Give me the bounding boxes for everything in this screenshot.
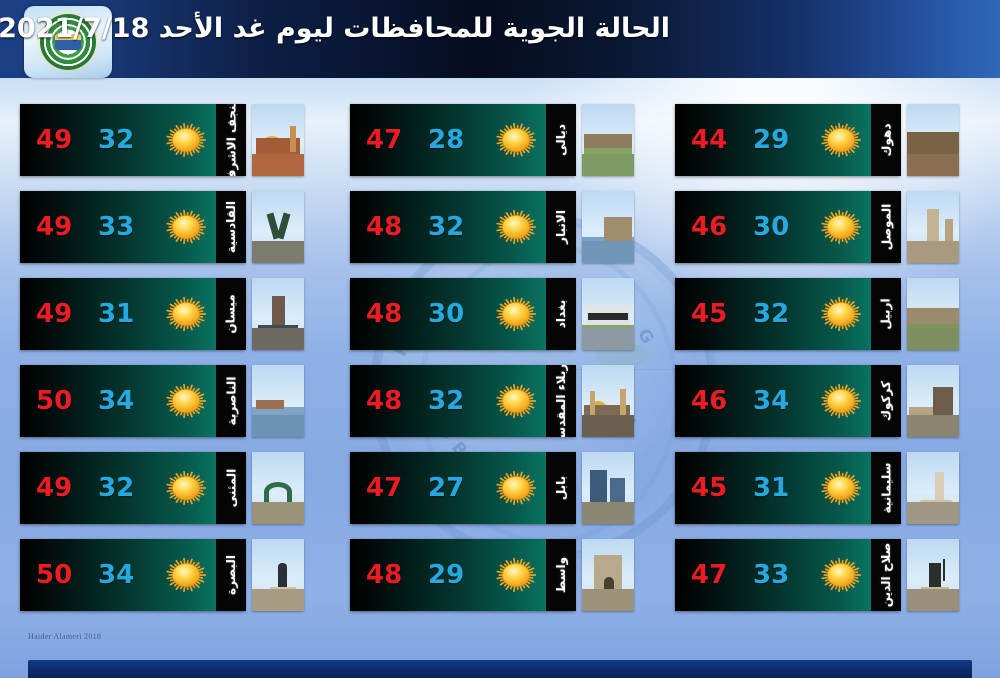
thumb-ground	[907, 589, 959, 611]
temp-low-value: 32	[98, 473, 134, 503]
city-landmark-thumbnail	[907, 191, 959, 263]
forecast-row: 49 31 ميسان	[20, 278, 340, 350]
column-left: 49 32 النجف الاشرف 49	[20, 104, 340, 626]
forecast-panel: 48 32 كربلاء المقدسة	[350, 365, 575, 437]
temp-low-value: 30	[753, 212, 789, 242]
city-name-tab: الموصل	[871, 191, 901, 263]
city-name-label: المثنى	[224, 469, 238, 508]
city-landmark-thumbnail	[252, 539, 304, 611]
sun-icon	[160, 551, 212, 599]
city-name-label: اربيل	[879, 298, 893, 329]
forecast-panel: 47 33 صلاح الدين	[675, 539, 900, 611]
thumb-ground	[582, 328, 634, 350]
sun-icon	[490, 290, 542, 338]
sun-icon	[160, 203, 212, 251]
temp-high-value: 48	[366, 386, 402, 416]
city-landmark-thumbnail	[582, 539, 634, 611]
city-name-tab: القادسية	[216, 191, 246, 263]
city-landmark-thumbnail	[907, 452, 959, 524]
sun-icon	[160, 464, 212, 512]
forecast-panel: 49 32 النجف الاشرف	[20, 104, 245, 176]
city-landmark-thumbnail	[907, 104, 959, 176]
city-name-label: دهوك	[879, 124, 893, 157]
city-name-label: القادسية	[224, 201, 238, 253]
city-name-tab: المثنى	[216, 452, 246, 524]
city-landmark-thumbnail	[907, 539, 959, 611]
city-name-tab: ميسان	[216, 278, 246, 350]
forecast-panel: 45 32 اربيل	[675, 278, 900, 350]
city-landmark-thumbnail	[907, 278, 959, 350]
forecast-row: 50 34 الناصرية	[20, 365, 340, 437]
forecast-row: 45 32 اربيل	[675, 278, 995, 350]
forecast-row: 49 32 المثنى	[20, 452, 340, 524]
weather-forecast-infographic: ROVI G HOU B R الحالة الجوية للمحافظات ل…	[0, 0, 1000, 678]
city-name-label: بابل	[554, 476, 568, 500]
city-name-label: البصرة	[224, 555, 238, 595]
city-name-tab: كركوك	[871, 365, 901, 437]
temp-low-value: 32	[753, 299, 789, 329]
thumb-ground	[252, 154, 304, 176]
city-landmark-thumbnail	[582, 104, 634, 176]
thumb-ground	[907, 502, 959, 524]
city-name-tab: دهوك	[871, 104, 901, 176]
city-name-label: سليمانية	[879, 463, 893, 514]
temp-high-value: 50	[36, 386, 72, 416]
temp-low-value: 30	[428, 299, 464, 329]
city-name-tab: ديالى	[546, 104, 576, 176]
sun-icon	[160, 377, 212, 425]
city-name-label: بغداد	[554, 300, 568, 328]
forecast-panel: 48 30 بغداد	[350, 278, 575, 350]
forecast-panel: 50 34 البصرة	[20, 539, 245, 611]
temp-high-value: 48	[366, 299, 402, 329]
city-name-tab: واسط	[546, 539, 576, 611]
city-landmark-thumbnail	[252, 278, 304, 350]
temp-high-value: 48	[366, 560, 402, 590]
thumb-ground	[907, 154, 959, 176]
city-name-tab: بابل	[546, 452, 576, 524]
forecast-row: 48 29 واسط	[350, 539, 670, 611]
sun-icon	[815, 116, 867, 164]
temp-high-value: 48	[366, 212, 402, 242]
forecast-row: 48 30 بغداد	[350, 278, 670, 350]
city-name-tab: النجف الاشرف	[216, 104, 246, 176]
thumb-ground	[252, 589, 304, 611]
city-name-tab: سليمانية	[871, 452, 901, 524]
temp-low-value: 31	[98, 299, 134, 329]
city-landmark-thumbnail	[582, 278, 634, 350]
column-middle: 47 28 ديالى 48	[350, 104, 670, 626]
city-landmark-thumbnail	[907, 365, 959, 437]
temp-high-value: 49	[36, 125, 72, 155]
thumb-ground	[252, 328, 304, 350]
page-title: الحالة الجوية للمحافظات ليوم غد الأحد 20…	[0, 13, 670, 44]
city-landmark-thumbnail	[582, 191, 634, 263]
bottom-bar	[28, 660, 972, 678]
city-name-label: صلاح الدين	[879, 543, 893, 607]
sun-icon	[815, 551, 867, 599]
sun-icon	[160, 116, 212, 164]
city-name-label: النجف الاشرف	[224, 104, 238, 176]
city-landmark-thumbnail	[582, 365, 634, 437]
forecast-row: 50 34 البصرة	[20, 539, 340, 611]
city-name-tab: كربلاء المقدسة	[546, 365, 576, 437]
temp-high-value: 49	[36, 299, 72, 329]
temp-high-value: 46	[691, 386, 727, 416]
city-name-tab: الناصرية	[216, 365, 246, 437]
sun-icon	[815, 290, 867, 338]
temp-low-value: 34	[98, 560, 134, 590]
temp-high-value: 47	[691, 560, 727, 590]
forecast-row: 47 33 صلاح الدين	[675, 539, 995, 611]
temp-low-value: 32	[428, 212, 464, 242]
city-name-tab: بغداد	[546, 278, 576, 350]
city-name-label: كركوك	[879, 381, 893, 421]
thumb-ground	[907, 415, 959, 437]
temp-high-value: 47	[366, 125, 402, 155]
forecast-panel: 47 27 بابل	[350, 452, 575, 524]
city-name-tab: صلاح الدين	[871, 539, 901, 611]
temp-high-value: 46	[691, 212, 727, 242]
forecast-panel: 44 29 دهوك	[675, 104, 900, 176]
city-name-tab: الانبار	[546, 191, 576, 263]
temp-high-value: 47	[366, 473, 402, 503]
temp-low-value: 31	[753, 473, 789, 503]
thumb-ground	[582, 241, 634, 263]
city-landmark-thumbnail	[582, 452, 634, 524]
forecast-panel: 46 30 الموصل	[675, 191, 900, 263]
forecast-row: 47 27 بابل	[350, 452, 670, 524]
forecast-panel: 48 32 الانبار	[350, 191, 575, 263]
forecast-row: 45 31 سليمانية	[675, 452, 995, 524]
city-landmark-thumbnail	[252, 104, 304, 176]
thumb-ground	[252, 241, 304, 263]
thumb-ground	[252, 415, 304, 437]
city-landmark-thumbnail	[252, 365, 304, 437]
city-landmark-thumbnail	[252, 191, 304, 263]
forecast-panel: 48 29 واسط	[350, 539, 575, 611]
thumb-ground	[582, 502, 634, 524]
temp-high-value: 49	[36, 473, 72, 503]
author-credit: Haider Alameri 2018	[28, 632, 101, 641]
sun-icon	[490, 116, 542, 164]
city-name-label: ديالى	[554, 124, 568, 156]
temp-low-value: 28	[428, 125, 464, 155]
forecast-panel: 46 34 كركوك	[675, 365, 900, 437]
sun-icon	[490, 377, 542, 425]
city-name-tab: البصرة	[216, 539, 246, 611]
temp-low-value: 34	[98, 386, 134, 416]
forecast-row: 46 30 الموصل	[675, 191, 995, 263]
sun-icon	[490, 203, 542, 251]
thumb-ground	[907, 241, 959, 263]
temp-low-value: 32	[428, 386, 464, 416]
forecast-row: 49 32 النجف الاشرف	[20, 104, 340, 176]
city-name-label: كربلاء المقدسة	[554, 365, 568, 437]
forecast-panel: 50 34 الناصرية	[20, 365, 245, 437]
temp-high-value: 50	[36, 560, 72, 590]
sun-icon	[815, 377, 867, 425]
temp-low-value: 27	[428, 473, 464, 503]
city-name-label: الانبار	[554, 210, 568, 244]
forecast-panel: 49 32 المثنى	[20, 452, 245, 524]
sun-icon	[490, 464, 542, 512]
temp-low-value: 33	[98, 212, 134, 242]
city-name-label: ميسان	[224, 294, 238, 333]
forecast-panel: 49 33 القادسية	[20, 191, 245, 263]
city-name-tab: اربيل	[871, 278, 901, 350]
city-landmark-thumbnail	[252, 452, 304, 524]
temp-high-value: 45	[691, 299, 727, 329]
forecast-panel: 47 28 ديالى	[350, 104, 575, 176]
header-bar: الحالة الجوية للمحافظات ليوم غد الأحد 20…	[0, 0, 1000, 78]
sun-icon	[815, 203, 867, 251]
forecast-row: 47 28 ديالى	[350, 104, 670, 176]
forecast-grid: 49 32 النجف الاشرف 49	[0, 104, 1000, 634]
thumb-ground	[582, 589, 634, 611]
forecast-panel: 45 31 سليمانية	[675, 452, 900, 524]
thumb-ground	[582, 154, 634, 176]
forecast-row: 48 32 كربلاء المقدسة	[350, 365, 670, 437]
thumb-ground	[252, 502, 304, 524]
sun-icon	[815, 464, 867, 512]
temp-high-value: 49	[36, 212, 72, 242]
temp-low-value: 33	[753, 560, 789, 590]
city-name-label: الموصل	[879, 204, 893, 251]
column-right: 44 29 دهوك 46	[675, 104, 995, 626]
city-name-label: الناصرية	[224, 377, 238, 426]
temp-low-value: 29	[428, 560, 464, 590]
city-name-label: واسط	[554, 557, 568, 593]
thumb-ground	[582, 415, 634, 437]
forecast-panel: 49 31 ميسان	[20, 278, 245, 350]
sun-icon	[160, 290, 212, 338]
thumb-ground	[907, 328, 959, 350]
forecast-row: 49 33 القادسية	[20, 191, 340, 263]
temp-low-value: 29	[753, 125, 789, 155]
temp-low-value: 34	[753, 386, 789, 416]
forecast-row: 46 34 كركوك	[675, 365, 995, 437]
temp-high-value: 45	[691, 473, 727, 503]
temp-low-value: 32	[98, 125, 134, 155]
sun-icon	[490, 551, 542, 599]
temp-high-value: 44	[691, 125, 727, 155]
forecast-row: 48 32 الانبار	[350, 191, 670, 263]
forecast-row: 44 29 دهوك	[675, 104, 995, 176]
